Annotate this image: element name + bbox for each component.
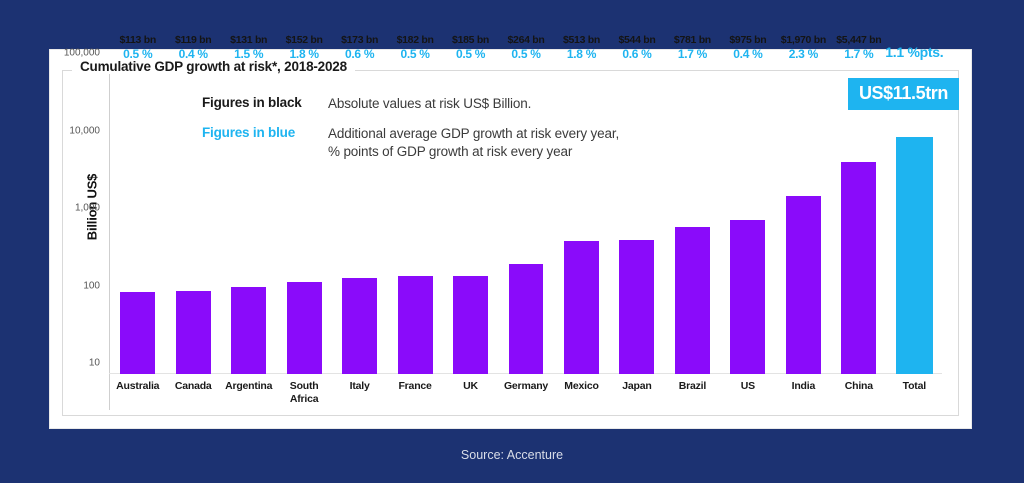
bar[interactable] bbox=[896, 137, 933, 374]
bar-percent-label: 2.3 % bbox=[781, 47, 826, 61]
bar-value-labels: $544 bn0.6 % bbox=[618, 34, 655, 64]
bar-group: $975 bn0.4 %US bbox=[720, 64, 775, 374]
bar-percent-label: 0.5 % bbox=[508, 47, 545, 61]
bar-value-labels: $1,970 bn2.3 % bbox=[781, 34, 826, 64]
bar-percent-label: 0.5 % bbox=[452, 47, 489, 61]
bar-percent-label: 0.6 % bbox=[618, 47, 655, 61]
legend-key-blue: Figures in blue bbox=[202, 125, 328, 140]
bar-percent-label: 0.4 % bbox=[729, 47, 766, 61]
x-axis-tick-label: France bbox=[398, 380, 431, 393]
bar-absolute-label: $781 bn bbox=[674, 34, 711, 46]
bar-value-labels: $5,447 bn1.7 % bbox=[836, 34, 881, 64]
bar-percent-label: 1.7 % bbox=[836, 47, 881, 61]
bar-percent-label: 0.5 % bbox=[397, 47, 434, 61]
bar-value-labels: $182 bn0.5 % bbox=[397, 34, 434, 64]
x-axis-tick-label: Canada bbox=[175, 380, 212, 393]
bar-value-labels: $513 bn1.8 % bbox=[563, 34, 600, 64]
legend-item-black: Figures in black Absolute values at risk… bbox=[202, 95, 619, 112]
bar[interactable] bbox=[509, 264, 544, 374]
x-axis-tick-label: Total bbox=[903, 380, 926, 393]
bar-value-labels: $975 bn0.4 % bbox=[729, 34, 766, 64]
bar[interactable] bbox=[675, 227, 710, 374]
page-title: Cumulative GDP growth at risk*, 2018-202… bbox=[72, 59, 355, 74]
bar[interactable] bbox=[841, 162, 876, 374]
bar-value-labels: $185 bn0.5 % bbox=[452, 34, 489, 64]
bar-absolute-label: $5,447 bn bbox=[836, 34, 881, 46]
x-axis-tick-label: India bbox=[792, 380, 816, 393]
bar[interactable] bbox=[176, 291, 211, 374]
bar-group: $113 bn0.5 %Australia bbox=[110, 64, 165, 374]
bar-absolute-label: $1,970 bn bbox=[781, 34, 826, 46]
bar[interactable] bbox=[120, 292, 155, 374]
bar-group: $781 bn1.7 %Brazil bbox=[665, 64, 720, 374]
bar-absolute-label: $131 bn bbox=[230, 34, 267, 46]
bar-absolute-label: $182 bn bbox=[397, 34, 434, 46]
bar-group: $5,447 bn1.7 %China bbox=[831, 64, 886, 374]
bar-absolute-label: $544 bn bbox=[618, 34, 655, 46]
x-axis-tick-label: Japan bbox=[622, 380, 651, 393]
x-axis-tick-label: US bbox=[741, 380, 755, 393]
bar-absolute-label: $119 bn bbox=[175, 34, 211, 46]
y-axis-tick-label: 100,000 bbox=[64, 48, 100, 59]
x-axis-tick-label: UK bbox=[463, 380, 478, 393]
x-axis-tick-label: China bbox=[845, 380, 873, 393]
bar-percent-label: 1.1 %pts. bbox=[885, 44, 943, 61]
status-badge: US$11.5trn bbox=[848, 78, 959, 110]
bar[interactable] bbox=[453, 276, 488, 374]
bar-absolute-label: $264 bn bbox=[508, 34, 545, 46]
bar[interactable] bbox=[287, 282, 322, 374]
bar-absolute-label: $152 bn bbox=[286, 34, 323, 46]
bar[interactable] bbox=[619, 240, 654, 375]
y-axis-tick-label: 1,000 bbox=[75, 203, 100, 214]
bar-absolute-label: $185 bn bbox=[452, 34, 489, 46]
y-axis-tick-label: 10 bbox=[89, 358, 100, 369]
bar-value-labels: 1.1 %pts. bbox=[885, 44, 943, 64]
bar-group: $1,970 bn2.3 %India bbox=[776, 64, 831, 374]
bar[interactable] bbox=[342, 278, 377, 374]
bar-group: 1.1 %pts.Total bbox=[887, 64, 942, 374]
bar-absolute-label: $975 bn bbox=[729, 34, 766, 46]
bar-absolute-label: $113 bn bbox=[120, 34, 156, 46]
source-caption: Source: Accenture bbox=[0, 448, 1024, 462]
chart-card: Cumulative GDP growth at risk*, 2018-202… bbox=[50, 50, 971, 428]
legend-desc-black: Absolute values at risk US$ Billion. bbox=[328, 95, 531, 112]
bar[interactable] bbox=[730, 220, 765, 374]
y-axis-tick-label: 100 bbox=[83, 280, 100, 291]
x-axis-tick-label: Argentina bbox=[225, 380, 272, 393]
bar[interactable] bbox=[786, 196, 821, 374]
x-axis-tick-label: Italy bbox=[350, 380, 370, 393]
bar-percent-label: 1.7 % bbox=[674, 47, 711, 61]
x-axis-tick-label: Germany bbox=[504, 380, 548, 393]
bar-value-labels: $264 bn0.5 % bbox=[508, 34, 545, 64]
x-axis-tick-label: Mexico bbox=[564, 380, 598, 393]
bar[interactable] bbox=[398, 276, 433, 374]
legend-item-blue: Figures in blue Additional average GDP g… bbox=[202, 125, 619, 160]
bar-absolute-label: $513 bn bbox=[563, 34, 600, 46]
bar-value-labels: $781 bn1.7 % bbox=[674, 34, 711, 64]
x-axis-tick-label: Brazil bbox=[679, 380, 706, 393]
bar-absolute-label: $173 bn bbox=[341, 34, 378, 46]
x-axis-tick-label: Australia bbox=[116, 380, 159, 393]
legend-key-black: Figures in black bbox=[202, 95, 328, 110]
chart-legend: Figures in black Absolute values at risk… bbox=[202, 95, 619, 173]
y-axis-tick-label: 10,000 bbox=[69, 125, 100, 136]
bar[interactable] bbox=[564, 241, 599, 374]
x-axis-tick-label: South Africa bbox=[290, 380, 319, 405]
legend-desc-blue: Additional average GDP growth at risk ev… bbox=[328, 125, 619, 160]
bar-percent-label: 1.8 % bbox=[563, 47, 600, 61]
bar[interactable] bbox=[231, 287, 266, 374]
